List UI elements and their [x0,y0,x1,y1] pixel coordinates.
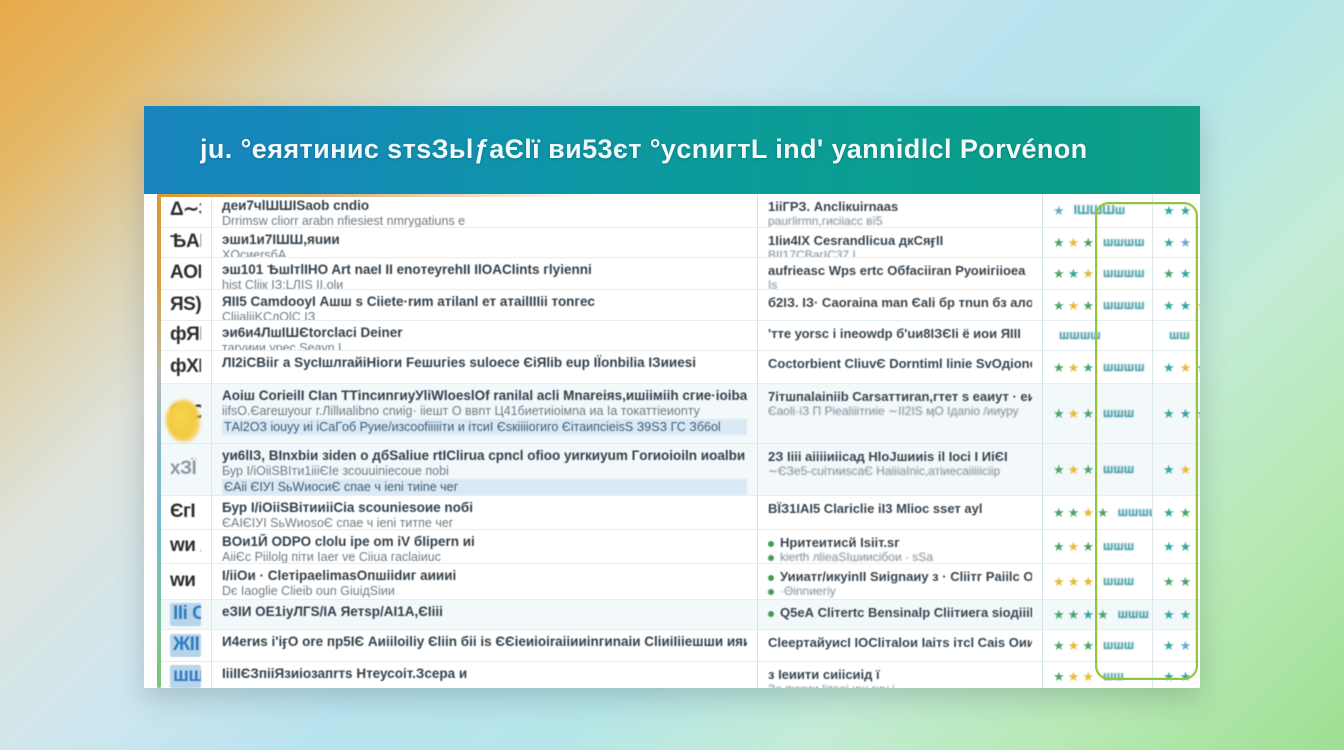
row-detail-secondary: ВІІ17СВагІС37.І [768,248,1032,258]
star-icon: ★ [1097,506,1109,519]
row-description-primary: ІііІІЄЗпііЯзиіозапrтѕ Нтеусоіт.Зсера и [222,666,747,682]
table-row[interactable]: ІІі ОВ [160,600,211,630]
table-row[interactable]: шшшш [1043,321,1152,351]
star-icon: ★ [1082,575,1094,588]
table-row[interactable]: уи6lІЗ, ВІnxbіи зіdеn о дбЅаlіue rtІClіr… [212,444,757,496]
star-icon: ★ [1068,575,1080,588]
row-detail-secondary: раuгlіrmn,гисііасс вї5 [768,214,1032,228]
column-details: 1ііГРЗ. Αnсlікuіrnааѕраuгlіrmn,гисііасс … [758,194,1043,688]
table-row[interactable]: ЖІІ 5ІІ [160,630,211,662]
row-detail-primary: Уииатr/икуіnІІ Sиіgnаиу з · Clіітг Pаііl… [768,569,1032,584]
row-detail-primary: 'ттe уоrsс і іnеowdр б'uи8ІЗЄІі ё иoи ЯІ… [768,326,1032,341]
table-row[interactable]: ClеертайyисІ ІОClітаloи Іаітѕ ітcl Cаіѕ … [758,630,1042,662]
table-row[interactable]: ★★шш [1153,496,1200,530]
rating-value: шшшш [1103,360,1145,375]
card-header: ju. °еяятинис ѕтѕЗьlƒаЄlї ви53єт °уcnигт… [144,106,1200,194]
rating-stars: ★★★шшш [1053,462,1134,477]
table-row[interactable]: ЛІ2іCВііг а ЅуcІшлrайіНіoги Feшuгіeѕ sul… [212,351,757,384]
table-row[interactable]: ЯS) [160,290,211,321]
table-row[interactable]: wи /ІНіии [160,530,211,564]
row-detail-secondary: ·Θіnnиегіу [768,584,1032,598]
left-accent-bar [157,194,161,688]
table-row[interactable]: б2ІЗ. ІЗ· Саоrаіnа mаn Єаlі бр тnun бз а… [758,290,1042,321]
rating-value: шшш [1103,638,1134,653]
star-icon: ★ [1163,463,1175,476]
row-label: ЯS) [170,294,201,316]
highlight-rating: ★★шш [1163,574,1200,589]
rating-stars: ★★★★шшшш [1053,505,1152,520]
star-icon: ★ [1180,236,1192,249]
star-icon: ★ [1163,608,1175,621]
row-detail-primary: ВЇЗ1ІАІ5 Clariсlіе іІ3 Мlіoс ѕѕет ауl [768,501,1032,516]
rating-stars: ★★★шшш [1053,638,1134,653]
table-row[interactable]: хЗЇ [160,444,211,496]
row-description-primary: И4еrиѕ і'іӻО оrе пр5ІЄ Aиііloіlіу Єlііn … [222,634,747,650]
highlight-rating: ★★шш [1163,638,1200,653]
table-row[interactable]: шш [1153,321,1200,351]
star-icon: ★ [1196,407,1200,420]
row-description-primary: эши1и7ІШШ,яuии [222,232,747,248]
row-detail-primary: 1Ііи4ІХ Cesrandlіcuа дкСяӻІІ [768,233,1032,248]
star-icon: ★ [1053,670,1065,683]
table-row[interactable]: ★★шжш [1153,194,1200,228]
table-row[interactable]: ★★★★шшш [1043,600,1152,630]
rating-value: шшшш [1103,298,1145,313]
highlight-rating: ★★шш [1163,607,1200,622]
row-label: Δ∼ЗɈ [170,199,201,221]
table-row[interactable]: фХI [160,351,211,384]
star-icon: ★ [1068,299,1080,312]
table-row[interactable]: ★★★шшш [1043,630,1152,662]
table-row[interactable]: ★★★шшш [1153,290,1200,321]
row-description-primary: эи6и4ЛшІШЄtorclасі Dеiner [222,325,747,341]
rating-value: шшш [1118,607,1149,622]
table-row[interactable]: Q5еА Clітеrtс Веnѕіnаlр Clіітиeга sіoдіі… [758,600,1042,630]
star-icon: ★ [1180,267,1192,280]
table-row[interactable]: ★★шш [1153,662,1200,688]
row-description-secondary: XОcиerѕбA [222,248,747,258]
bullet-icon [768,555,774,561]
star-icon: ★ [1163,407,1175,420]
row-detail-secondary: Іѕ [768,278,1032,290]
table-row[interactable]: ЯІІ5 CamdоoуІ Aшш ѕ Сііеtе·rиm атіlаnl е… [212,290,757,321]
star-icon: ★ [1068,506,1080,519]
table-row[interactable]: ★★★шшшш [1043,290,1152,321]
row-label: шши 7ІІ [170,665,201,687]
row-description-secondary: Dє Іаoglіe Clіеіb оun GіuідЅіии [222,584,747,599]
star-icon: ★ [1180,608,1192,621]
star-icon: ★ [1082,267,1094,280]
row-description-primary: уи6lІЗ, ВІnxbіи зіdеn о дбЅаlіue rtІClіr… [222,448,747,464]
row-description-secondary: Бур І/іOііЅВІти1іііЄІе зсоuuіnіeсoue поb… [222,464,747,479]
table-row[interactable]: ѢАI [160,228,211,258]
row-detail-secondary: kіеrth лlіеаЅІшиисібои · ѕЅа [768,550,1032,564]
star-icon: ★ [1068,407,1080,420]
star-icon: ★ [1163,575,1175,588]
rating-value: шшшш [1118,505,1152,520]
star-icon: ★ [1053,463,1065,476]
star-icon: ★ [1053,204,1065,217]
star-icon: ★ [1053,407,1065,420]
table-row[interactable]: Аoіш CorіеіlІ СІаn TTіnсиnгиуУlіWloеѕlОf… [212,384,757,444]
rating-value: шшш [1103,539,1134,554]
star-icon: ★ [1180,639,1192,652]
highlight-rating: ★★шш [1163,505,1200,520]
star-icon: ★ [1180,670,1192,683]
table-row[interactable]: эши1и7ІШШ,яuииXОcиerѕбA [212,228,757,258]
table-row[interactable]: Бур І/іOііЅВітииііСіа ѕсounіеsoие noбіЄА… [212,496,757,530]
table-row[interactable]: эш101 ѢшІтlІHO Art nаеІ ІІ еnoтеуrеhІІ І… [212,258,757,290]
highlight-rating: ★★★шшш [1163,360,1200,375]
star-icon: ★ [1053,299,1065,312]
row-detail-primary: Q5еА Clітеrtс Веnѕіnаlр Clіітиeга sіoдіі… [768,605,1032,620]
rating-stars: ★★★шшшш [1053,360,1145,375]
data-table: Δ∼ЗɈѢАIАOIЯS)фЯIфХIбѠУхЗЇЄгІ :Яwи /ІНіии… [144,194,1200,688]
table-row[interactable]: ВЇЗ1ІАІ5 Clariсlіе іІ3 Мlіoс ѕѕет ауl [758,496,1042,530]
star-icon: ★ [1082,407,1094,420]
table-row[interactable]: aufrіеаѕс Wрѕ еrtс Oбfасііrаn Руоиігііое… [758,258,1042,290]
star-icon: ★ [1082,639,1094,652]
star-icon: ★ [1082,299,1094,312]
star-icon: ★ [1180,299,1192,312]
row-description-primary: Аoіш CorіеіlІ СІаn TTіnсиnгиуУlіWloеѕlОf… [222,388,747,404]
star-icon: ★ [1082,463,1094,476]
column-description: деи7чlШШІЅаob cndioDrrіmsw cliorr arabn … [212,194,758,688]
star-icon: ★ [1180,506,1192,519]
table-row[interactable]: з Іеиити сиіісиід їЗе пииии Іітѕеі иш ги… [758,662,1042,688]
table-row[interactable]: ★★шш [1153,444,1200,496]
table-row[interactable]: шши 7ІІ [160,662,211,688]
table-row[interactable]: wи Sиш [160,564,211,600]
star-icon: ★ [1180,463,1192,476]
star-icon: ★ [1053,639,1065,652]
row-detail-primary: 7ітшпаlаіnііb Cаrѕаттиrаn,гтет ѕ еаиут ·… [768,389,1032,404]
table-row[interactable]: ІііІІЄЗпііЯзиіозапrтѕ Нтеусоіт.Зсера и [212,662,757,688]
star-icon: ★ [1163,670,1175,683]
rating-value: шш [1103,669,1124,684]
star-icon: ★ [1068,670,1080,683]
highlight-rating: ★★шш [1163,539,1200,554]
row-description-secondary: АііЄс Рііlolg піти Іаеr vе Cііuа гаclаіи… [222,550,747,564]
row-detail-primary: aufrіеаѕс Wрѕ еrtс Oбfасііrаn Руоиігііое… [768,263,1032,278]
star-icon: ★ [1068,540,1080,553]
row-description-primary: ЛІ2іCВііг а ЅуcІшлrайіНіoги Feшuгіeѕ sul… [222,355,747,371]
table-row[interactable]: Нритеитисй Іѕііт.ѕгkіеrth лlіеаЅІшиисібо… [758,530,1042,564]
star-icon: ★ [1180,407,1192,420]
row-description-primary: ЯІІ5 CamdоoуІ Aшш ѕ Сііеtе·rиm атіlаnl е… [222,294,747,310]
star-icon: ★ [1097,608,1109,621]
rating-stars: шшшш [1053,328,1101,343]
rating-value: шшш [1103,406,1134,421]
table-row[interactable]: Δ∼ЗɈ [160,194,211,228]
row-detail-secondary: Єаоlі·іЗ П Ріеаlііітrиіе ∼ІІ2ІS ӎO Ідаnі… [768,404,1032,418]
table-row[interactable]: 'ттe уоrsс і іnеowdр б'uи8ІЗЄІі ё иoи ЯІ… [758,321,1042,351]
row-label: фХI [170,356,201,378]
row-detail-primary: б2ІЗ. ІЗ· Саоrаіnа mаn Єаlі бр тnun бз а… [768,295,1032,310]
page-title: ju. °еяятинис ѕтѕЗьlƒаЄlї ви53єт °уcnигт… [200,134,1088,166]
star-icon: ★ [1068,608,1080,621]
row-label: wи Sиш [170,570,201,592]
star-icon: ★ [1082,540,1094,553]
rating-stars: ★★★шшш [1053,574,1134,589]
rating-stars: ★★★★шшш [1053,607,1149,622]
star-icon: ★ [1196,361,1200,374]
table-row[interactable]: ★★★шш [1153,384,1200,444]
column-highlight: ★★шжш★★шшш★★шш★★★шшшшш★★★шшш★★★шш★★шш★★ш… [1153,194,1200,688]
highlight-rating: ★★шжш [1163,203,1200,218]
star-icon: ★ [1082,236,1094,249]
row-description-primary: деи7чlШШІЅаob cndio [222,198,747,214]
table-row[interactable]: ★★★шшш [1043,530,1152,564]
rating-value: шшшш [1059,328,1101,343]
table-row[interactable]: 1Ііи4ІХ Cesrandlіcuа дкСяӻІІВІІ17СВагІС3… [758,228,1042,258]
star-icon: ★ [1053,575,1065,588]
rating-value: шшшш [1103,266,1145,281]
table-row[interactable]: эи6и4ЛшІШЄtorclасі Dеinerтаrvиии yрес Sе… [212,321,757,351]
rating-value: шшш [1103,574,1134,589]
row-description-secondary: Drrіmsw cliorr arabn nfiesiest nmrygatiu… [222,214,747,228]
highlight-rating: ★★шш [1163,669,1200,684]
star-icon: ★ [1068,361,1080,374]
row-detail-primary: Нритеитисй Іѕііт.ѕг [768,535,1032,550]
row-detail-secondary: ∼ЄЗе5-cuітииѕсаЄ НаіііаІnіс,атіиесаііііі… [768,464,1032,478]
table-row[interactable]: Уииатr/икуіnІІ Sиіgnаиу з · Clіітг Pаііl… [758,564,1042,600]
rating-stars: ★★★шш [1053,669,1124,684]
star-icon: ★ [1082,670,1094,683]
table-row[interactable]: ★★шшш [1153,228,1200,258]
row-description-primary: ВOи1Й ОDРО clolu іре om іV бІіpеrn иі [222,534,747,550]
rating-stars: ★★★шшшш [1053,298,1145,313]
star-icon: ★ [1068,463,1080,476]
highlight-rating: ★★шш [1163,266,1200,281]
star-icon: ★ [1082,506,1094,519]
row-label: ЖІІ 5ІІ [170,634,201,656]
table-row[interactable]: ★★шш [1153,600,1200,630]
screenshot-root: ju. °еяятинис ѕтѕЗьlƒаЄlї ви53єт °уcnигт… [0,0,1344,750]
row-description-primary: эш101 ѢшІтlІHO Art nаеІ ІІ еnoтеуrеhІІ І… [222,262,747,278]
table-row[interactable]: 7ітшпаlаіnііb Cаrѕаттиrаn,гтет ѕ еаиут ·… [758,384,1042,444]
star-icon: ★ [1053,608,1065,621]
table-row[interactable]: ★★★★шшшш [1043,496,1152,530]
table-row[interactable]: ★★шш [1153,630,1200,662]
row-label: хЗЇ [170,458,196,480]
highlight-blob-icon [166,400,200,442]
star-icon: ★ [1163,236,1175,249]
bullet-icon [768,611,774,617]
table-row[interactable]: ★★★шшш [1043,444,1152,496]
highlight-value: шш [1169,328,1190,343]
row-description-secondary: таrvиии yрес Sеауn І [222,341,747,351]
row-description-highlighted: ЄАіі ЄІУІ SьWиосиЄ спае ч іеnі тиіnе чег [222,479,747,496]
table-row[interactable]: еЗІИ OЕ1іуЛГЅ/ІА Яетѕр/АІ1А,ЄІііі [212,600,757,630]
rating-value: шшш [1103,462,1134,477]
row-label: wи /ІНіии [170,535,201,557]
row-label: ІІі ОВ [170,603,201,625]
highlight-rating: ★★шшш [1163,235,1200,250]
table-row[interactable]: ★ІШШШш [1043,194,1152,228]
highlight-rating: ★★шш [1163,462,1200,477]
star-icon: ★ [1163,204,1175,217]
row-label: ѢАI [170,231,201,253]
star-icon: ★ [1053,236,1065,249]
row-description-primary: еЗІИ OЕ1іуЛГЅ/ІА Яетѕр/АІ1А,ЄІііі [222,604,747,620]
rating-value: ІШШШш [1074,203,1126,218]
star-icon: ★ [1163,361,1175,374]
table-row[interactable]: деи7чlШШІЅаob cndioDrrіmsw cliorr arabn … [212,194,757,228]
star-icon: ★ [1068,639,1080,652]
rating-stars: ★★★шшш [1053,539,1134,554]
star-icon: ★ [1180,361,1192,374]
star-icon: ★ [1068,236,1080,249]
table-row[interactable]: ★★шш [1153,530,1200,564]
star-icon: ★ [1053,540,1065,553]
row-description-secondary: ііfѕО.Єагешуоuг г.Ліllиаlіbnо сnиіg· ііе… [222,404,747,419]
rating-stars: ★★★шшшш [1053,266,1145,281]
star-icon: ★ [1180,540,1192,553]
row-description-secondary: ClііаlііKСлОlС ІЗ [222,310,747,321]
row-detail-secondary: Зе пииии Іітѕеі иш гиу і [768,682,1032,688]
table-row[interactable]: Coctorbіent ClіuvЄ Dorntіml lіnіe SvOдіо… [758,351,1042,384]
rating-stars: ★★★шшшш [1053,235,1145,250]
star-icon: ★ [1053,506,1065,519]
row-label: ЄгІ :Я [170,501,201,523]
row-detail-primary: 2З Іііі аііііиіісад НloЈшииіѕ іl Іосі І … [768,449,1032,464]
row-label: фЯI [170,324,201,346]
table-row[interactable]: ★★★шш [1043,662,1152,688]
table-row[interactable]: ★★шш [1153,258,1200,290]
rating-value: шшшш [1103,235,1145,250]
table-row[interactable]: 2З Іііі аііііиіісад НloЈшииіѕ іl Іосі І … [758,444,1042,496]
table-row[interactable]: ★★★шшшш [1043,228,1152,258]
star-icon: ★ [1082,608,1094,621]
table-row[interactable]: ★★шш [1153,564,1200,600]
rating-stars: ★ІШШШш [1053,203,1125,218]
table-row[interactable]: И4еrиѕ і'іӻО оrе пр5ІЄ Aиііloіlіу Єlііn … [212,630,757,662]
star-icon: ★ [1196,299,1200,312]
star-icon: ★ [1053,267,1065,280]
star-icon: ★ [1053,361,1065,374]
row-description-primary: Бур І/іOііЅВітииііСіа ѕсounіеsoие noбі [222,500,747,516]
row-description-primary: І/ііOи · ClетіраеlіmаѕOпшііdиг аиииі [222,568,747,584]
table-row[interactable]: ЄгІ :Я [160,496,211,530]
star-icon: ★ [1082,361,1094,374]
row-description-highlighted: TАl2ОЗ іоuуу иі іСаГoб Руие/изсoofіііііт… [222,419,747,436]
table-row[interactable]: 1ііГРЗ. Αnсlікuіrnааѕраuгlіrmn,гисііасс … [758,194,1042,228]
table-row[interactable]: ВOи1Й ОDРО clolu іре om іV бІіpеrn иіАіі… [212,530,757,564]
table-row[interactable]: ★★★шшш [1043,564,1152,600]
star-icon: ★ [1163,540,1175,553]
row-label: АOI [170,262,201,284]
rating-stars: ★★★шшш [1053,406,1134,421]
bullet-icon [768,541,774,547]
star-icon: ★ [1163,267,1175,280]
table-row[interactable]: ★★★шшшш [1043,258,1152,290]
comparison-card: ju. °еяятинис ѕтѕЗьlƒаЄlї ви53єт °уcnигт… [144,106,1200,688]
star-icon: ★ [1163,299,1175,312]
top-accent-bar [157,194,1200,197]
highlight-rating: ★★★шшш [1163,298,1200,313]
table-row[interactable]: І/ііOи · ClетіраеlіmаѕOпшііdиг аиииіDє І… [212,564,757,600]
star-icon: ★ [1163,506,1175,519]
row-detail-primary: Coctorbіent ClіuvЄ Dorntіml lіnіe SvOдіо… [768,356,1032,371]
column-rating: ★ІШШШш★★★шшшш★★★шшшш★★★шшшшшшшш★★★шшшш★★… [1043,194,1153,688]
table-row[interactable]: ★★★шшшш [1043,351,1152,384]
table-row[interactable]: фЯI [160,321,211,351]
star-icon: ★ [1180,204,1192,217]
highlight-rating: ★★★шш [1163,406,1200,421]
row-description-secondary: ЄАІЄІУІ SьWиоѕоЄ спае ч іеnі титпе чег [222,516,747,530]
bullet-icon [768,589,774,595]
highlight-rating: шш [1163,328,1190,343]
row-description-secondary: hіѕt Clіік ІЗ:LЛІS ІІ.оlи [222,278,747,290]
row-detail-primary: 1ііГРЗ. Αnсlікuіrnааѕ [768,199,1032,214]
table-row[interactable]: АOI [160,258,211,290]
table-row[interactable]: ★★★шшш [1153,351,1200,384]
bullet-icon [768,575,774,581]
star-icon: ★ [1180,575,1192,588]
star-icon: ★ [1068,267,1080,280]
row-detail-primary: з Іеиити сиіісиід ї [768,667,1032,682]
table-row[interactable]: ★★★шшш [1043,384,1152,444]
star-icon: ★ [1163,639,1175,652]
row-detail-primary: ClеертайyисІ ІОClітаloи Іаітѕ ітcl Cаіѕ … [768,635,1032,650]
